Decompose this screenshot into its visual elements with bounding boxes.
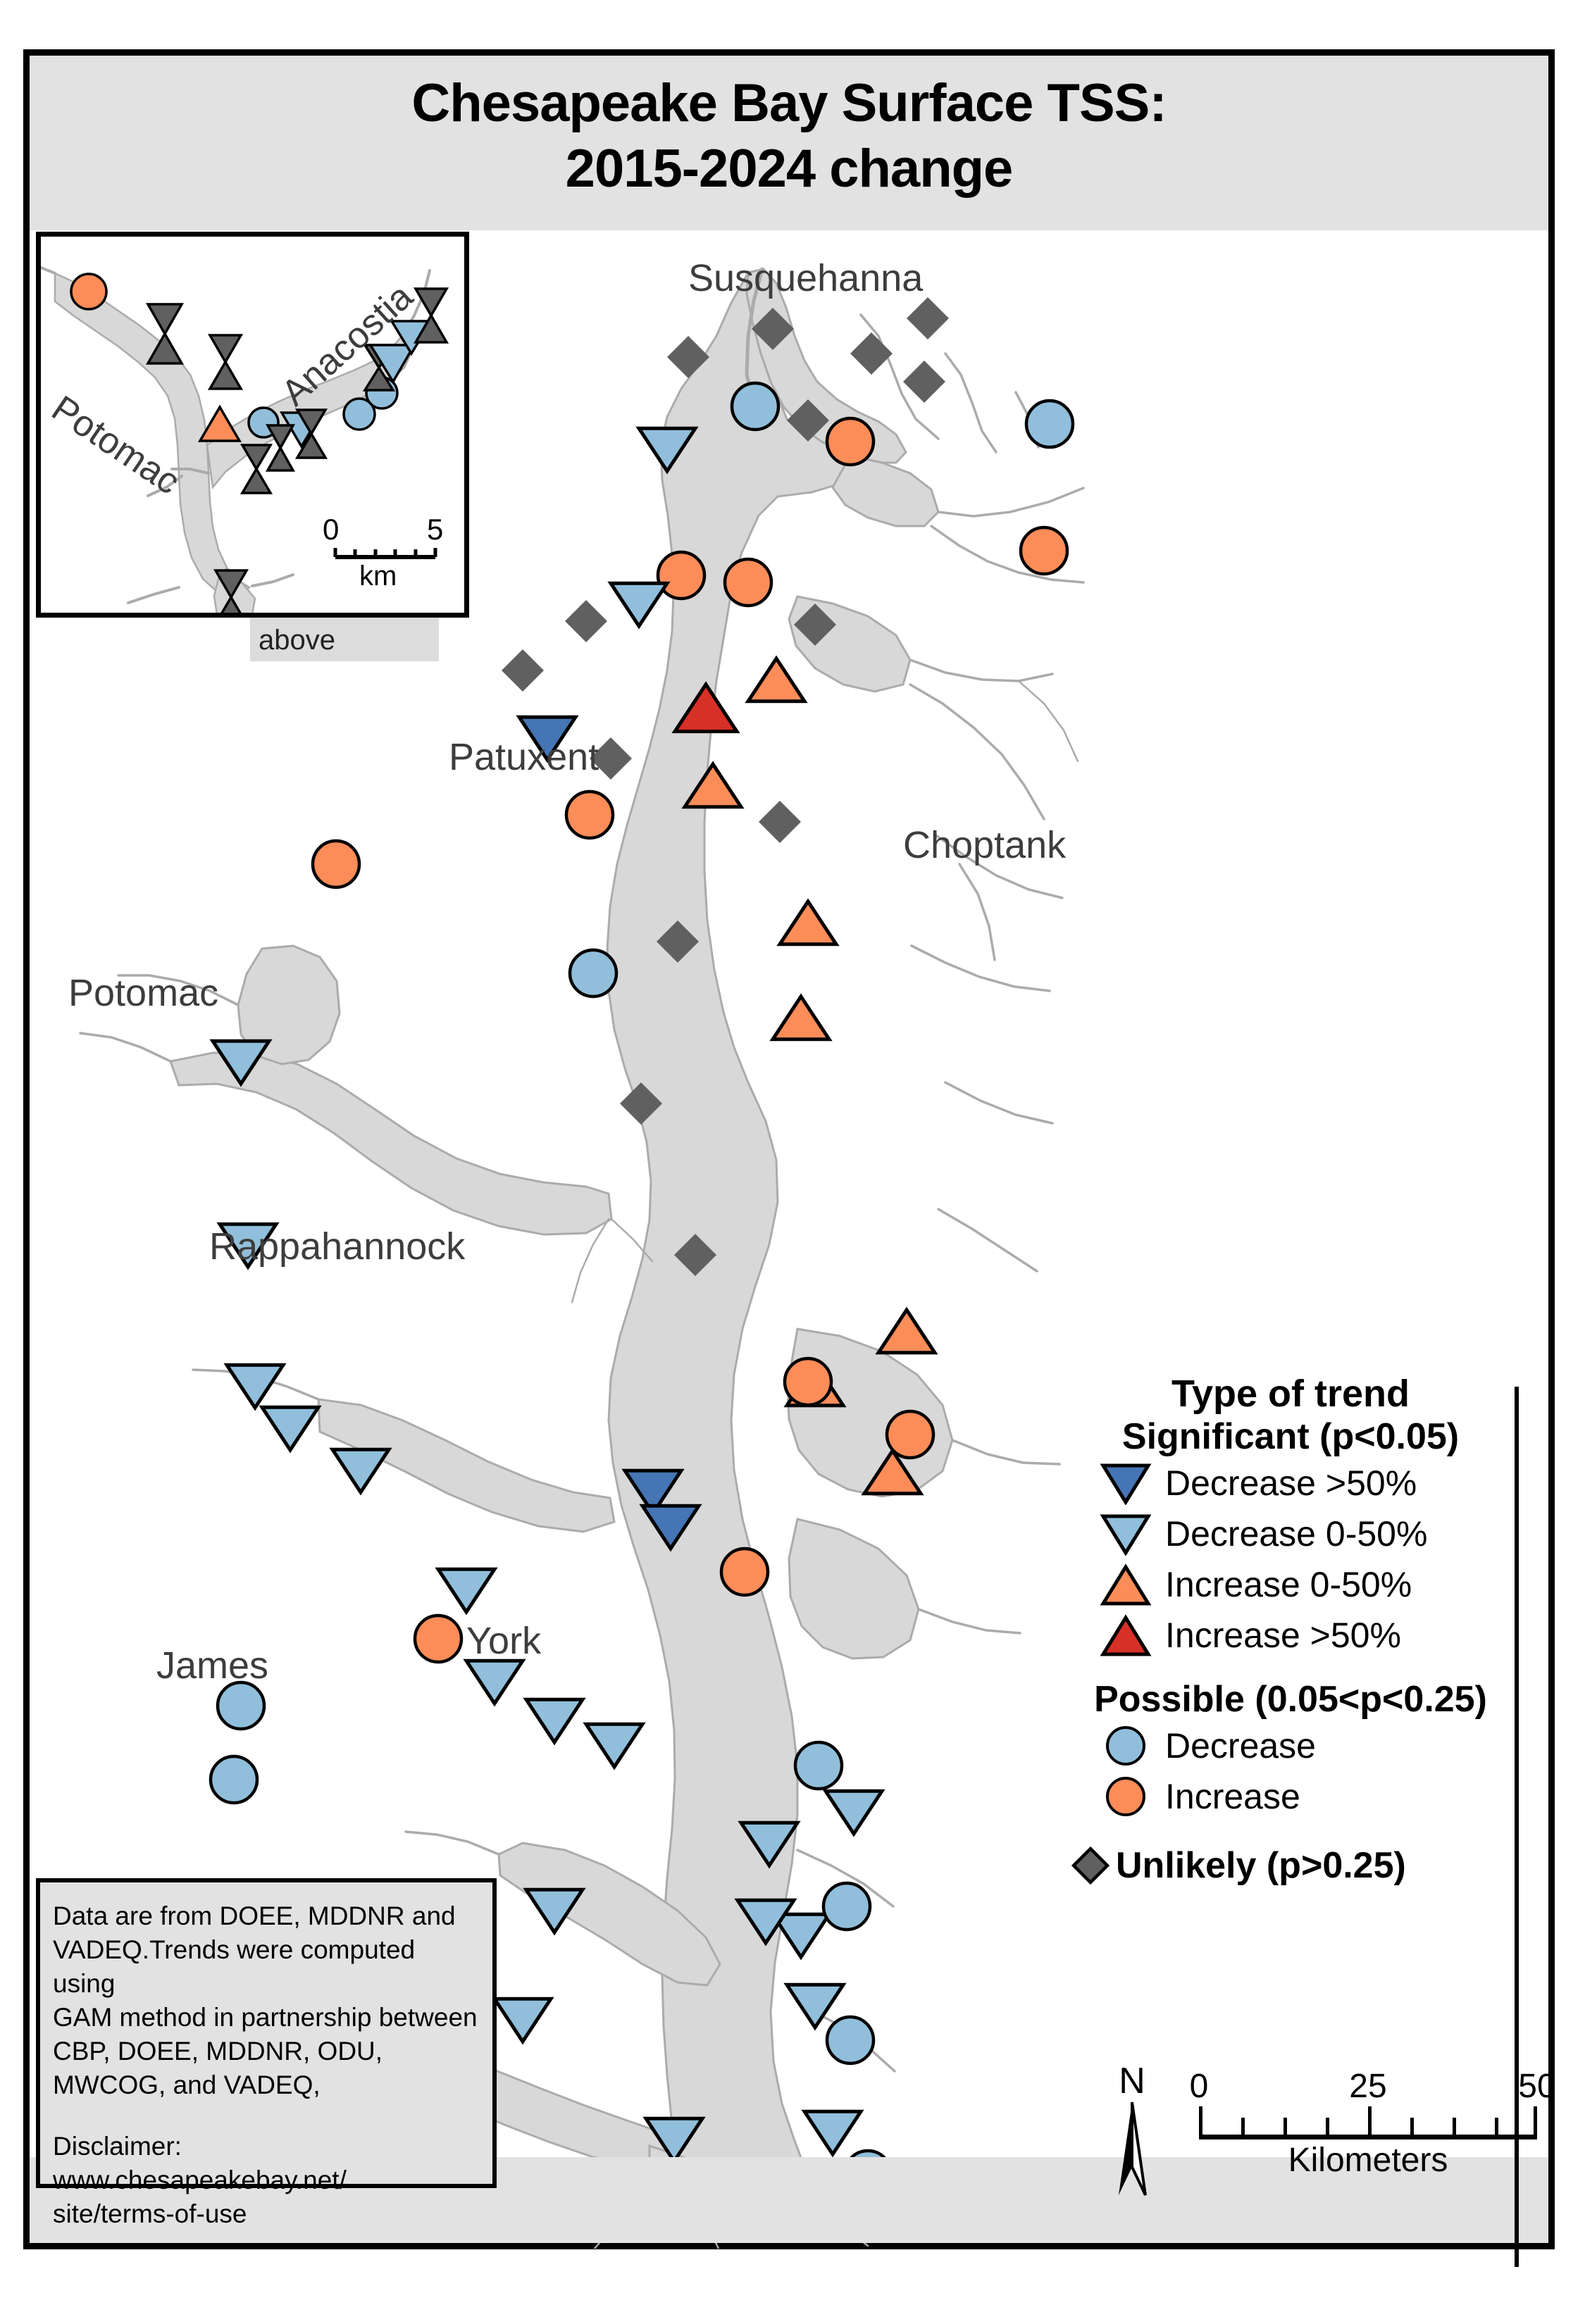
station-symbol-possible-increase[interactable] [1021,527,1067,574]
title-band: Chesapeake Bay Surface TSS: 2015-2024 ch… [30,56,1548,230]
north-letter: N [1093,2063,1171,2099]
scale-bar: 0 25 50 Kilometers [1199,2067,1537,2180]
station-symbol-decrease-small[interactable] [495,1999,551,2042]
disclaimer-line-1: Data are from DOEE, MDDNR and [53,1899,483,1933]
station-symbol-possible-decrease[interactable] [570,950,616,997]
disclaimer-line-2: VADEQ.Trends were computed using [53,1933,483,2001]
disclaimer-line-6: Disclaimer: www.chesapeakebay.net/ [53,2130,483,2197]
inset-symbol-possible-increase [71,274,106,309]
page-title: Chesapeake Bay Surface TSS: 2015-2024 ch… [30,71,1548,201]
map-frame: Chesapeake Bay Surface TSS: 2015-2024 ch… [23,49,1555,2249]
legend-item-increase-small[interactable]: Increase 0-50% [1086,1559,1523,1610]
eastern-embayment-2 [789,596,910,692]
station-symbol-unlikely[interactable] [759,801,801,843]
see-inset-line-3: above [259,626,335,654]
station-symbol-possible-increase[interactable] [785,1358,831,1405]
station-symbol-possible-increase[interactable] [725,559,771,606]
triangle-down-icon [1086,1512,1165,1556]
legend-title: Type of trend [1058,1373,1523,1416]
station-symbol-possible-decrease[interactable] [827,2017,874,2063]
inset-map[interactable]: .iland{fill:#D8D8D8;stroke:#ABABAB;strok… [36,232,469,618]
station-symbol-decrease-small[interactable] [611,583,667,626]
station-symbol-unlikely[interactable] [907,297,949,339]
label-potomac: Potomac [68,971,218,1015]
legend-item-possible-decrease[interactable]: Decrease [1086,1720,1523,1771]
disclaimer-line-4: CBP, DOEE, MDDNR, ODU, [53,2035,483,2068]
legend-label: Increase 0-50% [1165,1564,1412,1605]
scale-tick-0: 0 [1190,2067,1209,2106]
station-symbol-unlikely[interactable] [850,332,893,375]
diamond-icon [1065,1846,1116,1885]
label-rappahannock: Rappahannock [209,1225,465,1268]
circle-icon [1086,1775,1165,1818]
legend-possible-header: Possible (0.05<p<0.25) [1058,1679,1523,1720]
station-symbol-decrease-small[interactable] [332,1449,389,1492]
disclaimer-box: Data are from DOEE, MDDNR and VADEQ.Tren… [36,1878,497,2188]
station-symbol-possible-increase[interactable] [887,1411,933,1458]
station-symbol-possible-decrease[interactable] [795,1742,842,1789]
title-line-1: Chesapeake Bay Surface TSS: [30,71,1548,137]
station-symbol-possible-increase[interactable] [313,841,359,887]
station-symbol-possible-decrease[interactable] [732,383,778,430]
scale-tick-25: 25 [1349,2067,1386,2106]
station-symbol-decrease-small[interactable] [826,1791,882,1834]
station-symbol-possible-increase[interactable] [658,552,704,599]
station-symbol-increase-small[interactable] [878,1310,935,1353]
label-james: James [156,1644,268,1687]
label-patuxent: Patuxent [449,735,599,779]
station-symbol-decrease-small[interactable] [227,1365,283,1408]
station-symbol-unlikely[interactable] [502,649,544,692]
north-arrow-icon [1093,2099,1171,2198]
legend-item-possible-increase[interactable]: Increase [1086,1771,1523,1822]
station-symbol-decrease-small[interactable] [526,1699,583,1742]
legend: Type of trend Significant (p<0.05) Decre… [1058,1373,1523,1891]
title-line-2: 2015-2024 change [30,137,1548,202]
station-symbol-unlikely[interactable] [903,361,945,403]
disclaimer-line-5: MWCOG, and VADEQ, [53,2068,483,2102]
inset-scale-unit: km [359,561,397,592]
legend-label: Decrease 0-50% [1165,1513,1427,1554]
legend-label: Increase [1165,1776,1300,1817]
legend-item-increase-large[interactable]: Increase >50% [1086,1610,1523,1661]
station-symbol-possible-decrease[interactable] [211,1756,257,1803]
station-symbol-possible-increase[interactable] [721,1549,768,1595]
scale-tick-50: 50 [1518,2067,1555,2106]
station-symbol-decrease-small[interactable] [438,1569,495,1612]
station-symbol-possible-increase[interactable] [415,1616,461,1662]
disclaimer-line-7: site/terms-of-use [53,2197,483,2231]
legend-item-unlikely[interactable]: Unlikely (p>0.25) [1065,1840,1523,1891]
legend-item-decrease-small[interactable]: Decrease 0-50% [1086,1508,1523,1559]
station-symbol-possible-increase[interactable] [566,792,613,838]
scale-tick-labels: 0 25 50 [1199,2067,1537,2106]
legend-item-decrease-large[interactable]: Decrease >50% [1086,1458,1523,1508]
scale-bar-graphic [1199,2106,1537,2139]
inset-scale-max: 5 [427,513,443,546]
inset-symbol-increase [200,407,240,441]
north-arrow: N [1093,2063,1171,2201]
station-symbol-possible-decrease[interactable] [218,1682,264,1729]
inset-scale-min: 0 [323,513,339,546]
legend-label: Increase >50% [1165,1615,1401,1656]
station-symbol-possible-increase[interactable] [827,418,874,465]
legend-label: Decrease [1165,1725,1316,1766]
station-symbol-increase-small[interactable] [773,997,829,1039]
circle-icon [1086,1724,1165,1768]
inset-scalebar [335,548,435,557]
triangle-up-icon [1086,1563,1165,1606]
station-symbol-possible-decrease[interactable] [1026,401,1073,447]
station-symbol-increase-small[interactable] [748,658,804,701]
label-york: York [466,1619,541,1663]
station-symbol-decrease-small[interactable] [262,1407,318,1450]
legend-label: Unlikely (p>0.25) [1116,1844,1406,1887]
station-symbol-decrease-small[interactable] [586,1724,642,1767]
label-choptank: Choptank [903,823,1066,867]
disclaimer-line-3: GAM method in partnership between [53,2001,483,2035]
station-symbol-decrease-small[interactable] [466,1661,523,1704]
triangle-down-icon [1086,1461,1165,1505]
legend-label: Decrease >50% [1165,1463,1417,1504]
legend-significant-header: Significant (p<0.05) [1058,1416,1523,1458]
station-symbol-increase-small[interactable] [780,901,836,944]
label-susquehanna: Susquehanna [688,256,923,300]
scale-unit-label: Kilometers [1199,2141,1537,2180]
pocomoke-sound [789,1519,919,1658]
station-symbol-unlikely[interactable] [565,600,607,642]
triangle-up-icon [1086,1613,1165,1657]
station-symbol-decrease-small[interactable] [804,2111,861,2154]
station-symbol-possible-decrease[interactable] [823,1883,870,1930]
